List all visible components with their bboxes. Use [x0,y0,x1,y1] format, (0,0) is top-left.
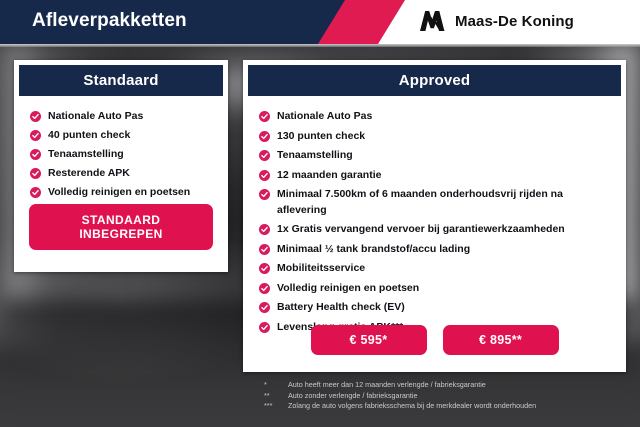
footnote-row: *** Zolang de auto volgens fabrieksschem… [264,401,624,412]
brand-name: Maas-De Koning [455,13,574,30]
feature-label: Minimaal 7.500km of 6 maanden onderhouds… [277,187,595,218]
check-circle-icon [259,189,270,200]
feature-label: Minimaal ½ tank brandstof/accu lading [277,242,470,258]
feature-label: Tenaamstelling [48,147,124,162]
list-item: Mobiliteitsservice [259,261,626,277]
list-item: Nationale Auto Pas [259,109,626,125]
card-heading-approved: Approved [248,65,621,96]
feature-label: Volledig reinigen en poetsen [277,281,419,297]
card-heading-standaard: Standaard [19,65,223,96]
list-item: Tenaamstelling [30,147,228,162]
footnote-text: Auto zonder verlengde / fabrieksgarantie [288,391,417,402]
page-title: Afleverpakketten [32,10,187,32]
feature-label: 130 punten check [277,129,365,145]
list-item: Tenaamstelling [259,148,626,164]
page-root: Afleverpakketten Maas-De Koning Standaar… [0,0,640,427]
feature-label: Mobiliteitsservice [277,261,365,277]
standaard-inbegrepen-button[interactable]: STANDAARD INBEGREPEN [29,204,213,250]
feature-label: Nationale Auto Pas [277,109,372,125]
list-item: Volledig reinigen en poetsen [259,281,626,297]
footnote-row: ** Auto zonder verlengde / fabrieksgaran… [264,391,624,402]
list-item: 12 maanden garantie [259,168,626,184]
footnote-text: Auto heeft meer dan 12 maanden verlengde… [288,380,486,391]
check-circle-icon [259,111,270,122]
check-circle-icon [259,170,270,181]
check-circle-icon [30,149,41,160]
list-item: Nationale Auto Pas [30,109,228,124]
check-circle-icon [259,150,270,161]
cta-row-standaard: STANDAARD INBEGREPEN [14,204,228,250]
package-card-approved: Approved Nationale Auto Pas 130 punten c… [243,60,626,372]
footnote-marker: ** [264,391,288,402]
page-header: Afleverpakketten Maas-De Koning [0,0,640,44]
footnote-row: * Auto heeft meer dan 12 maanden verleng… [264,380,624,391]
maas-de-koning-m-mark-icon [418,9,446,33]
check-circle-icon [30,130,41,141]
cta-row-approved: € 595* € 895** [243,325,626,355]
list-item: 130 punten check [259,129,626,145]
check-circle-icon [259,263,270,274]
list-item: 40 punten check [30,128,228,143]
check-circle-icon [30,168,41,179]
feature-label: Battery Health check (EV) [277,300,405,316]
feature-list-standaard: Nationale Auto Pas 40 punten check Tenaa… [14,96,228,200]
feature-label: 1x Gratis vervangend vervoer bij garanti… [277,222,565,238]
list-item: Minimaal 7.500km of 6 maanden onderhouds… [259,187,626,218]
feature-list-approved: Nationale Auto Pas 130 punten check Tena… [243,96,626,335]
list-item: Volledig reinigen en poetsen [30,185,228,200]
feature-label: 12 maanden garantie [277,168,381,184]
footnote-marker: * [264,380,288,391]
list-item: Resterende APK [30,166,228,181]
list-item: 1x Gratis vervangend vervoer bij garanti… [259,222,626,238]
feature-label: Nationale Auto Pas [48,109,143,124]
check-circle-icon [259,244,270,255]
check-circle-icon [259,131,270,142]
check-circle-icon [30,111,41,122]
check-circle-icon [259,283,270,294]
price-button-595[interactable]: € 595* [311,325,427,355]
header-divider [0,44,640,47]
list-item: Minimaal ½ tank brandstof/accu lading [259,242,626,258]
check-circle-icon [259,302,270,313]
list-item: Battery Health check (EV) [259,300,626,316]
feature-label: Volledig reinigen en poetsen [48,185,190,200]
package-card-standaard: Standaard Nationale Auto Pas 40 punten c… [14,60,228,272]
check-circle-icon [259,224,270,235]
footnotes: * Auto heeft meer dan 12 maanden verleng… [264,380,624,412]
feature-label: 40 punten check [48,128,130,143]
footnote-text: Zolang de auto volgens fabrieksschema bi… [288,401,536,412]
feature-label: Tenaamstelling [277,148,353,164]
feature-label: Resterende APK [48,166,130,181]
footnote-marker: *** [264,401,288,412]
check-circle-icon [30,187,41,198]
price-button-895[interactable]: € 895** [443,325,559,355]
brand-lockup: Maas-De Koning [418,9,574,33]
